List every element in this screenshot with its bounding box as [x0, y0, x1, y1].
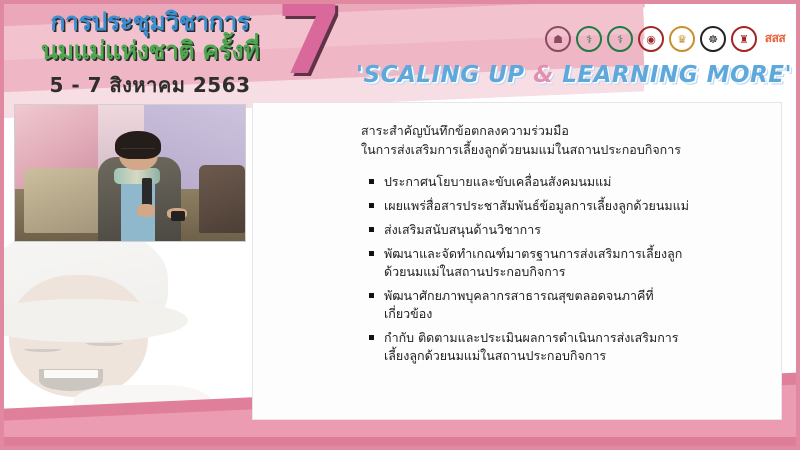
bullet-item-5-line-1: พัฒนาศักยภาพบุคลากรสาธารณสุขตลอดจนภาคีที… [384, 288, 654, 303]
logo-royal-crest: ♛ [669, 26, 695, 52]
content-bullet-list: ประกาศนโยบายและขับเคลื่อนสังคมนมแม่เผยแพ… [369, 173, 763, 365]
logo-green-circle-1: ⚕ [576, 26, 602, 52]
video-speaker-scarf [114, 168, 160, 184]
content-heading-line-2: ในการส่งเสริมการเลี้ยงลูกด้วยนมแม่ในสถาน… [361, 140, 763, 159]
logo-black-circle: ☸ [700, 26, 726, 52]
logo-ministry-emblem: ☗ [545, 26, 571, 52]
logo-ministry-emblem-mark: ☗ [545, 26, 571, 52]
bullet-item-3-line-1: ส่งเสริมสนับสนุนด้านวิชาการ [384, 222, 541, 237]
slide-header: การประชุมวิชาการ นมแม่แห่งชาติ ครั้งที่ … [4, 4, 796, 104]
video-presenter-remote [171, 211, 185, 221]
watermark-child-hat-brim [4, 299, 188, 342]
bullet-item-5-line-2: เกี่ยวข้อง [384, 305, 763, 323]
video-speaker-hand-left [137, 204, 155, 216]
logo-red-crest-mark: ♜ [731, 26, 757, 52]
conference-title-line-1: การประชุมวิชาการ [22, 8, 278, 36]
video-armchair-left [24, 168, 102, 233]
video-speaker-hair [115, 131, 161, 160]
event-date: 5 - 7 สิงหาคม 2563 [22, 69, 278, 101]
bullet-item-6-line-1: กำกับ ติดตามและประเมินผลการดำเนินการส่งเ… [384, 330, 679, 345]
logo-green-circle-1-mark: ⚕ [576, 26, 602, 52]
video-armchair-right [199, 165, 245, 233]
logo-thaihealth: สสส [762, 26, 788, 52]
watermark-child-eye-right [86, 340, 123, 346]
logo-red-crest: ♜ [731, 26, 757, 52]
tagline-ampersand: & [533, 62, 554, 88]
logo-thaihealth-text: สสส [762, 32, 788, 44]
logo-green-circle-2: ⚕ [607, 26, 633, 52]
bullet-item-4-line-2: ด้วยนมแม่ในสถานประกอบกิจการ [384, 263, 763, 281]
bullet-item-1: ประกาศนโยบายและขับเคลื่อนสังคมนมแม่ [369, 173, 763, 191]
content-heading: สาระสำคัญบันทึกข้อตกลงความร่วมมือในการส่… [361, 121, 763, 159]
watermark-child-teeth [44, 370, 99, 378]
conference-title-line-2: นมแม่แห่งชาติ ครั้งที่ [22, 37, 278, 65]
tagline-suffix: LEARNING MORE' [554, 62, 792, 88]
logo-red-garuda-mark: ◉ [638, 26, 664, 52]
watermark-child-eye-left [24, 346, 61, 352]
logo-red-garuda: ◉ [638, 26, 664, 52]
content-heading-line-1: สาระสำคัญบันทึกข้อตกลงความร่วมมือ [361, 121, 763, 140]
logo-black-circle-mark: ☸ [700, 26, 726, 52]
speaker-video-feed[interactable] [14, 104, 246, 242]
conference-tagline: 'SCALING UP & LEARNING MORE' [356, 62, 788, 88]
bullet-item-4: พัฒนาและจัดทำเกณฑ์มาตรฐานการส่งเสริมการเ… [369, 245, 763, 281]
bullet-item-6: กำกับ ติดตามและประเมินผลการดำเนินการส่งเ… [369, 329, 763, 365]
bullet-item-5: พัฒนาศักยภาพบุคลากรสาธารณสุขตลอดจนภาคีที… [369, 287, 763, 323]
tagline-prefix: 'SCALING UP [356, 62, 533, 88]
bullet-item-2: เผยแพร่สื่อสารประชาสัมพันธ์ข้อมูลการเลี้… [369, 197, 763, 215]
bottom-ribbon-edge [4, 437, 796, 446]
logo-royal-crest-mark: ♛ [669, 26, 695, 52]
bullet-item-2-line-1: เผยแพร่สื่อสารประชาสัมพันธ์ข้อมูลการเลี้… [384, 198, 689, 213]
sponsor-logo-strip: ☗⚕⚕◉♛☸♜สสส [545, 26, 788, 52]
logo-green-circle-2-mark: ⚕ [607, 26, 633, 52]
bullet-item-3: ส่งเสริมสนับสนุนด้านวิชาการ [369, 221, 763, 239]
edition-number: 7 [276, 0, 343, 88]
bullet-item-4-line-1: พัฒนาและจัดทำเกณฑ์มาตรฐานการส่งเสริมการเ… [384, 246, 682, 261]
slide-content-panel: สาระสำคัญบันทึกข้อตกลงความร่วมมือในการส่… [252, 102, 782, 420]
video-speaker-glasses [121, 148, 156, 154]
conference-title-block: การประชุมวิชาการ นมแม่แห่งชาติ ครั้งที่ … [22, 8, 278, 101]
bullet-item-6-line-2: เลี้ยงลูกด้วยนมแม่ในสถานประกอบกิจการ [384, 347, 763, 365]
bullet-item-1-line-1: ประกาศนโยบายและขับเคลื่อนสังคมนมแม่ [384, 174, 611, 189]
conference-slide: การประชุมวิชาการ นมแม่แห่งชาติ ครั้งที่ … [0, 0, 800, 450]
